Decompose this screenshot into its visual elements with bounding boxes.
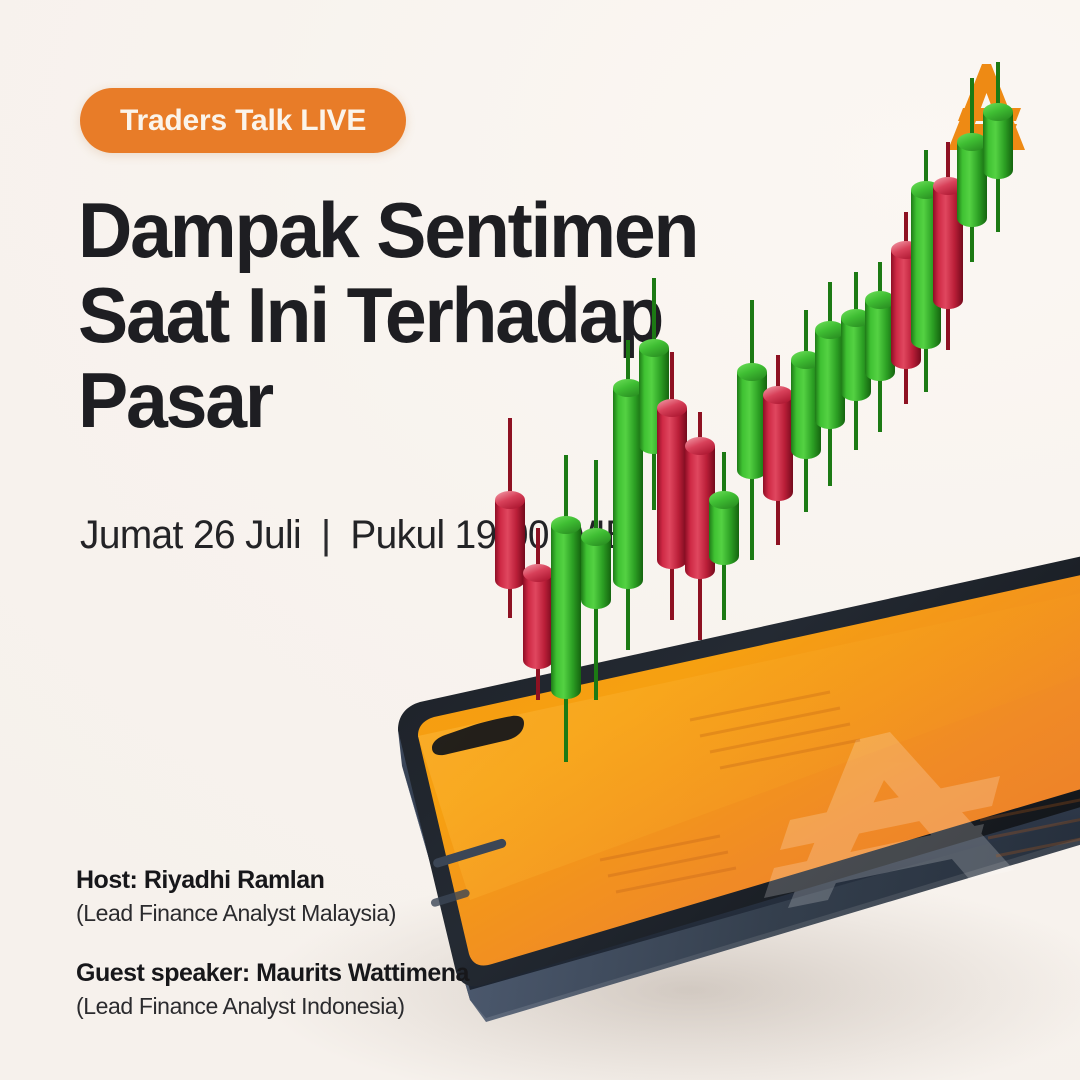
candlestick-8 (685, 412, 715, 640)
smartphone (398, 549, 1080, 1022)
candle-cap (495, 491, 525, 509)
guest-name: Guest speaker: Maurits Wattimena (76, 959, 469, 988)
candle-body (865, 300, 895, 381)
phone-front-bezel (398, 549, 1080, 986)
candlestick-17 (911, 150, 941, 392)
phone-side-face (398, 730, 1080, 1018)
candle-cap (709, 491, 739, 509)
candlestick-3 (551, 455, 581, 762)
host-role: (Lead Finance Analyst Malaysia) (76, 900, 469, 927)
candle-body (891, 250, 921, 369)
candle-cap (791, 351, 821, 369)
host-name: Host: Riyadhi Ramlan (76, 866, 469, 895)
ascendex-a-logo (930, 58, 1038, 158)
candle-body (911, 190, 941, 349)
candle-body (815, 330, 845, 429)
candle-cap (523, 564, 553, 582)
live-badge-label: Traders Talk LIVE (120, 104, 366, 138)
candle-cap (865, 291, 895, 309)
screen-speed-lines (600, 692, 1080, 892)
candle-cap (891, 241, 921, 259)
candlestick-13 (815, 282, 845, 486)
candlestick-15 (865, 262, 895, 432)
screen-highlight (418, 584, 1080, 900)
candlestick-16 (891, 212, 921, 404)
schedule-date: Jumat 26 Juli (80, 513, 301, 557)
volume-button (432, 838, 507, 869)
schedule-line: Jumat 26 Juli | Pukul 19.00 WIB (80, 513, 631, 558)
candle-cap (911, 181, 941, 199)
candle-body (685, 446, 715, 579)
host-credit: Host: Riyadhi Ramlan (Lead Finance Analy… (76, 866, 469, 927)
candlestick-4 (581, 460, 611, 700)
screen-content (418, 584, 1080, 908)
guest-credit: Guest speaker: Maurits Wattimena (Lead F… (76, 959, 469, 1020)
candlestick-12 (791, 310, 821, 512)
candlestick-9 (709, 452, 739, 620)
schedule-separator: | (321, 513, 331, 558)
phone-bottom-edge (402, 766, 1080, 1022)
candle-cap (841, 309, 871, 327)
candlestick-14 (841, 272, 871, 450)
candle-body (791, 360, 821, 459)
candle-body (709, 500, 739, 565)
candle-body (523, 573, 553, 669)
live-badge: Traders Talk LIVE (80, 88, 406, 153)
phone-notch (432, 716, 524, 755)
headline-line-1: Dampak Sentimen (78, 188, 792, 273)
candle-body (933, 186, 963, 309)
schedule-time: Pukul 19.00 WIB (350, 513, 630, 557)
credits-block: Host: Riyadhi Ramlan (Lead Finance Analy… (76, 866, 469, 1020)
candle-body (841, 318, 871, 401)
headline-line-2: Saat Ini Terhadap (78, 273, 792, 358)
poster-canvas: Traders Talk LIVE Dampak Sentimen Saat I… (0, 0, 1080, 1080)
phone-screen (418, 569, 1080, 965)
headline-line-3: Pasar (78, 358, 792, 443)
screen-watermark-logo (764, 732, 1014, 908)
page-title: Dampak Sentimen Saat Ini Terhadap Pasar (78, 188, 792, 443)
candle-cap (933, 177, 963, 195)
guest-role: (Lead Finance Analyst Indonesia) (76, 993, 469, 1020)
candle-cap (815, 321, 845, 339)
candlestick-18 (933, 142, 963, 350)
